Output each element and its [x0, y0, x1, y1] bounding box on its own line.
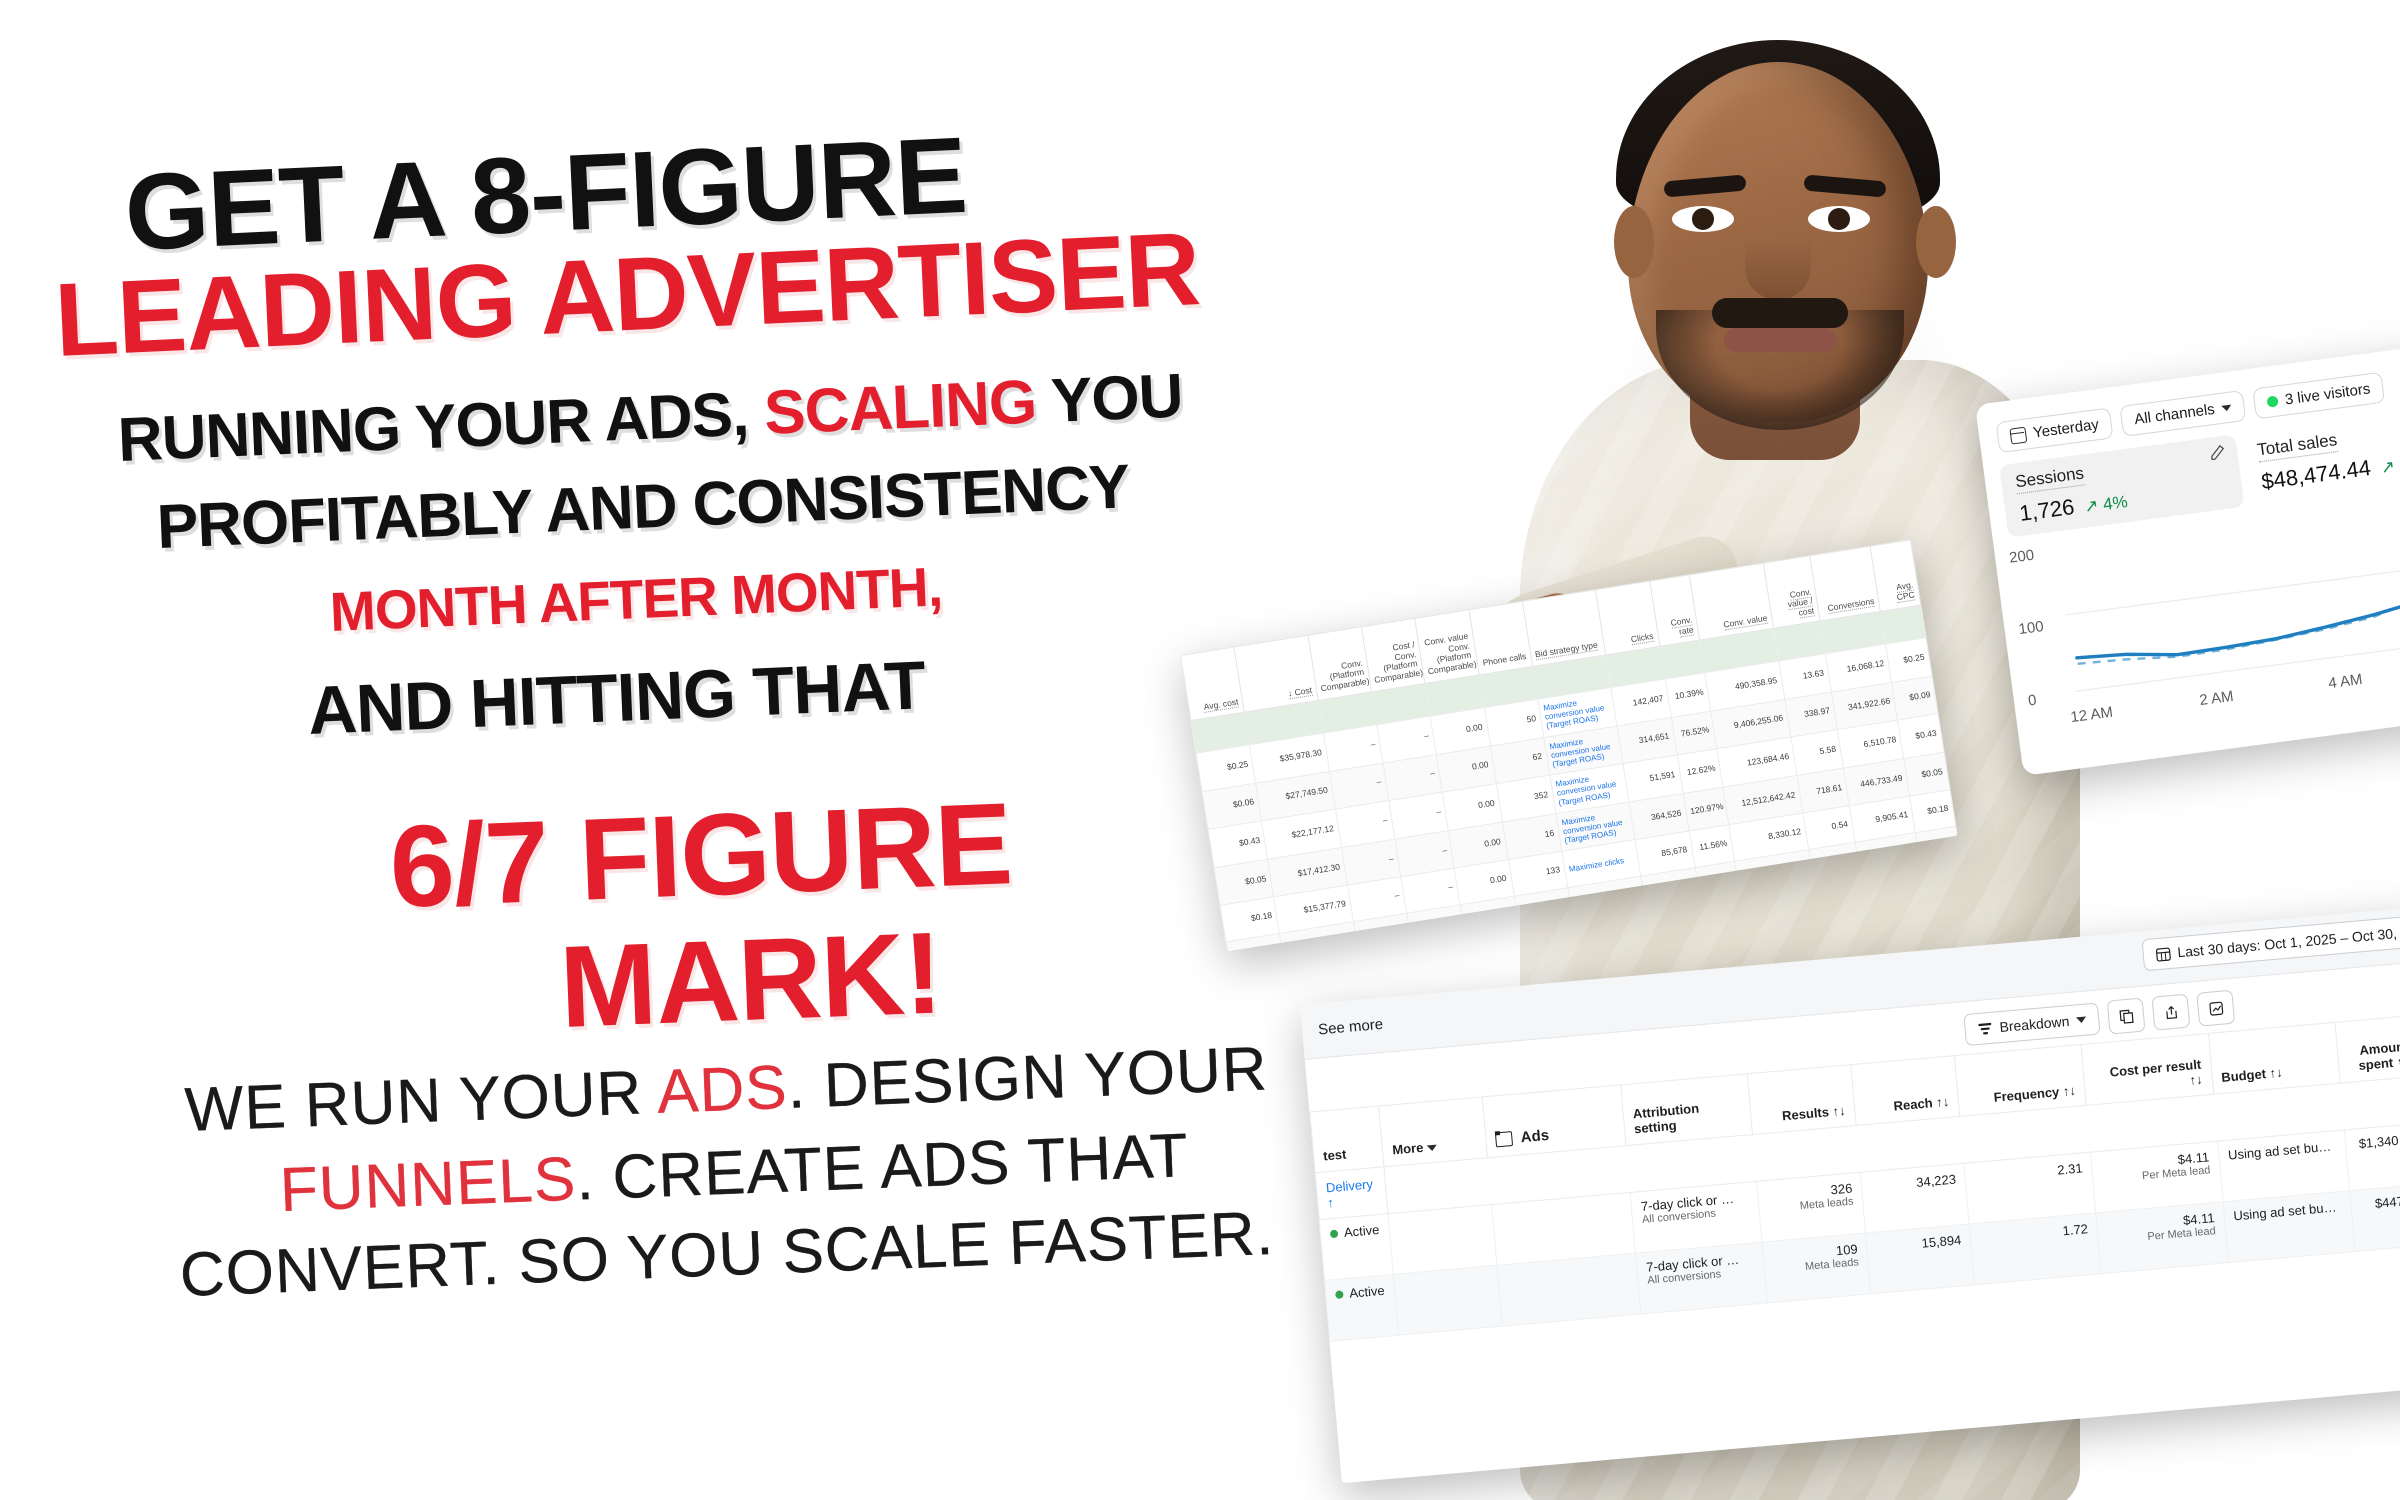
- cell-amount-spent: $1,340.00: [2344, 1123, 2400, 1191]
- cell-attribution: 7-day click or …All conversions: [1630, 1181, 1762, 1253]
- col-clicks[interactable]: Clicks: [1596, 581, 1660, 655]
- col-avg-cost[interactable]: Avg. cost: [1181, 647, 1245, 721]
- cell-cost-per-result: $4.11Per Meta lead: [2096, 1202, 2228, 1274]
- cell-cost-per-result: $4.11Per Meta lead: [2091, 1141, 2223, 1213]
- col-test[interactable]: test: [1310, 1106, 1384, 1173]
- subcopy-1a: WE RUN YOUR: [184, 1058, 659, 1145]
- subcopy-1c: . DESIGN YOUR: [786, 1034, 1269, 1121]
- edit-pencil-icon[interactable]: [2208, 444, 2226, 462]
- presenter-lips: [1724, 328, 1836, 352]
- cell-conv-rate: 10.39%: [1665, 673, 1711, 717]
- headline-line-3-c: YOU: [1035, 361, 1184, 436]
- presenter-eye-left: [1672, 206, 1734, 232]
- breakdown-icon: [1977, 1021, 1993, 1035]
- cell-spacer2: [1497, 1253, 1640, 1326]
- cell-frequency: 1.72: [1969, 1213, 2101, 1285]
- channels-label: All channels: [2133, 401, 2215, 428]
- total-sales-label: Total sales: [2256, 430, 2339, 462]
- col-convvalue-platform[interactable]: Conv. value Conv. (Platform Comparable): [1415, 610, 1479, 684]
- col-phone-calls[interactable]: Phone calls: [1468, 601, 1532, 675]
- col-results[interactable]: Results ↑↓: [1747, 1065, 1856, 1135]
- x-tick-2am: 2 AM: [2198, 688, 2234, 709]
- cell-delivery: Active: [1319, 1214, 1393, 1281]
- presenter-moustache: [1712, 298, 1848, 328]
- live-status-dot-icon: [2266, 395, 2278, 407]
- copy-icon: [2118, 1008, 2134, 1024]
- cell-reach: 15,894: [1866, 1224, 1975, 1294]
- col-attribution[interactable]: Attribution setting: [1621, 1074, 1753, 1146]
- x-tick-4am: 4 AM: [2327, 671, 2363, 692]
- presenter-ear-left: [1614, 206, 1654, 278]
- trend-chart-icon: [2208, 1000, 2224, 1016]
- sessions-value: 1,726: [2018, 494, 2076, 527]
- duplicate-button[interactable]: [2107, 998, 2146, 1035]
- cell-results: 109Meta leads: [1762, 1233, 1871, 1303]
- cell-frequency: 2.31: [1964, 1152, 2096, 1224]
- subcopy-funnels: FUNNELS: [279, 1145, 578, 1225]
- y-tick-0: 0: [2027, 692, 2037, 710]
- meta-ads-table: test More Ads Attribution setting Result…: [1309, 1009, 2400, 1342]
- sessions-delta: ↗ 4%: [2083, 492, 2129, 518]
- total-sales-value: $48,474.44: [2260, 455, 2373, 495]
- headline-line-8: MARK!: [557, 905, 943, 1054]
- chevron-down-icon: [1427, 1145, 1437, 1152]
- presenter-eye-right: [1808, 206, 1870, 232]
- cell-avg-cpc: $0.25: [1886, 638, 1932, 682]
- see-more-link[interactable]: See more: [1318, 1016, 1384, 1039]
- col-frequency[interactable]: Frequency ↑↓: [1955, 1045, 2087, 1117]
- x-tick-12am: 12 AM: [2070, 704, 2114, 726]
- export-icon: [2163, 1004, 2179, 1020]
- cell-amount-spent: $447.65: [2349, 1184, 2400, 1252]
- col-conv-value[interactable]: Conv. value: [1689, 563, 1773, 640]
- y-tick-200: 200: [2008, 547, 2035, 567]
- col-conv-platform[interactable]: Conv. (Platform Comparable): [1308, 627, 1372, 701]
- delivery-header[interactable]: Delivery ↑: [1315, 1167, 1388, 1220]
- calendar-icon: [2009, 426, 2027, 444]
- headline-line-3-b: SCALING: [763, 368, 1038, 448]
- col-conversions[interactable]: Conversions: [1810, 546, 1881, 621]
- subcopy-2b: . CREATE ADS THAT: [575, 1121, 1190, 1213]
- headline-line-6: AND HITTING THAT: [306, 646, 926, 750]
- col-cost-per-result[interactable]: Cost per result ↑↓: [2081, 1033, 2213, 1105]
- cell-conv-rate: 12.62%: [1677, 749, 1723, 793]
- headline-line-3-a: RUNNING YOUR ADS,: [117, 379, 766, 475]
- breakdown-button[interactable]: Breakdown: [1963, 1002, 2100, 1046]
- cell-spacer: [1388, 1205, 1497, 1275]
- subcopy-ads: ADS: [656, 1053, 789, 1127]
- headline-line-5: MONTH AFTER MONTH,: [329, 554, 944, 644]
- ads-tab-icon: [1495, 1131, 1513, 1147]
- sessions-label: Sessions: [2014, 463, 2085, 494]
- col-budget[interactable]: Budget ↑↓: [2208, 1022, 2340, 1094]
- chevron-down-icon: [2076, 1017, 2086, 1024]
- chevron-down-icon: [2221, 404, 2232, 411]
- col-bid-strategy[interactable]: Bid strategy type: [1522, 590, 1606, 667]
- cell-delivery: Active: [1325, 1274, 1399, 1341]
- cell-budget: Using ad set bu…: [2217, 1130, 2349, 1202]
- y-tick-100: 100: [2018, 618, 2045, 638]
- cell-conv-rate: 11.56%: [1689, 825, 1735, 868]
- cell-reach: 34,223: [1860, 1163, 1969, 1233]
- meta-toolbar-right: Last 30 days: Oct 1, 2025 – Oct 30, 2025: [2141, 912, 2400, 972]
- active-status-dot-icon: [1335, 1290, 1344, 1299]
- poster-canvas: GET A 8-FIGURE LEADING ADVERTISER RUNNIN…: [0, 0, 2400, 1500]
- export-button[interactable]: [2152, 994, 2191, 1031]
- cell-budget: Using ad set bu…: [2223, 1191, 2355, 1263]
- date-range-button[interactable]: Last 30 days: Oct 1, 2025 – Oct 30, 2025: [2141, 912, 2400, 972]
- date-range-label: Yesterday: [2032, 416, 2100, 441]
- cell-avg-cpc: $0.05: [1904, 752, 1950, 796]
- cell-spacer: [1394, 1265, 1503, 1335]
- col-cost[interactable]: ↓ Cost: [1234, 635, 1318, 712]
- presenter-ear-right: [1916, 206, 1956, 278]
- cell-avg-cpc: $0.18: [1910, 790, 1956, 833]
- cell-avg-cpc: $0.43: [1898, 714, 1944, 758]
- cell-conv-rate: 76.52%: [1671, 711, 1717, 755]
- active-status-dot-icon: [1330, 1230, 1339, 1239]
- cell-avg-cpc: $0.09: [1892, 676, 1938, 720]
- cell-attribution: 7-day click or …All conversions: [1635, 1242, 1767, 1314]
- chart-toggle-button[interactable]: [2196, 990, 2235, 1027]
- cell-results: 326Meta leads: [1757, 1172, 1866, 1242]
- col-amount-spent[interactable]: Amount spent ↑↓: [2335, 1015, 2400, 1083]
- calendar-grid-icon: [2155, 945, 2171, 961]
- col-cost-conv-platform[interactable]: Cost / Conv. (Platform Comparable): [1361, 618, 1425, 692]
- total-sales-delta: ↗ 33%: [2380, 452, 2400, 479]
- live-visitors-label: 3 live visitors: [2284, 380, 2371, 408]
- date-range-label: Last 30 days: Oct 1, 2025 – Oct 30, 2025: [2177, 922, 2400, 960]
- cell-conv-rate: 120.97%: [1683, 787, 1729, 831]
- col-reach[interactable]: Reach ↑↓: [1851, 1056, 1960, 1126]
- col-more[interactable]: More: [1379, 1097, 1488, 1167]
